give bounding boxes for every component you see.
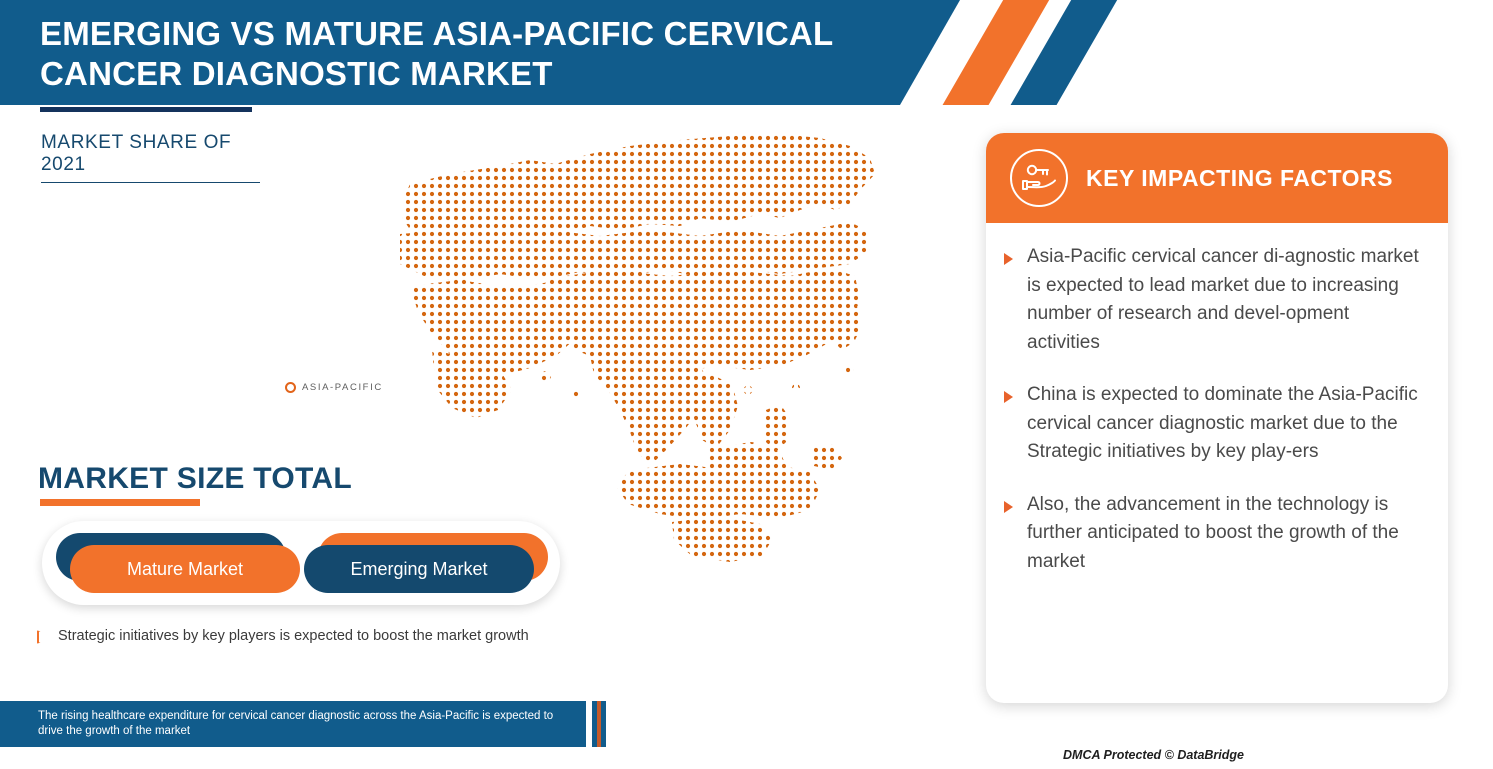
key-impacting-factors-panel: KEY IMPACTING FACTORS Asia-Pacific cervi… [986,133,1448,703]
market-share-accent-bar [40,107,252,112]
page-header: EMERGING VS MATURE ASIA-PACIFIC CERVICAL… [0,0,1493,105]
banner-tick-right [601,701,606,747]
market-size-bullet: Strategic initiatives by key players is … [37,626,607,647]
triangle-bullet-icon [1004,501,1013,513]
key-impacting-factors-title: KEY IMPACTING FACTORS [1086,165,1393,192]
market-size-total-title: MARKET SIZE TOTAL [38,462,352,496]
dot-map-svg [380,118,900,588]
hand-holding-key-icon [1010,149,1068,207]
emerging-market-pill-group[interactable]: Emerging Market [304,521,548,605]
list-item-text: China is expected to dominate the Asia-P… [1027,381,1422,467]
market-size-underline [40,499,200,506]
bottom-banner: The rising healthcare expenditure for ce… [0,701,586,747]
triangle-bullet-icon [37,630,49,644]
triangle-bullet-icon [1004,391,1013,403]
page-title: EMERGING VS MATURE ASIA-PACIFIC CERVICAL… [40,14,920,94]
bottom-banner-text: The rising healthcare expenditure for ce… [0,709,586,739]
market-share-label: MARKET SHARE OF 2021 [41,132,260,183]
circle-marker-icon [285,382,296,393]
key-impacting-factors-header: KEY IMPACTING FACTORS [986,133,1448,223]
dmca-footer: DMCA Protected © DataBridge [1063,748,1244,762]
list-item: Asia-Pacific cervical cancer di-agnostic… [1004,243,1422,357]
market-size-bullet-text: Strategic initiatives by key players is … [58,626,529,647]
map-region-label: ASIA-PACIFIC [302,382,383,393]
key-impacting-factors-list: Asia-Pacific cervical cancer di-agnostic… [986,223,1448,576]
mature-market-pill[interactable]: Mature Market [70,545,300,593]
list-item-text: Also, the advancement in the technology … [1027,491,1422,577]
asia-pacific-map-marker: ASIA-PACIFIC [285,382,383,393]
mature-market-pill-group[interactable]: Mature Market [56,521,302,605]
list-item-text: Asia-Pacific cervical cancer di-agnostic… [1027,243,1422,357]
emerging-market-pill[interactable]: Emerging Market [304,545,534,593]
asia-pacific-dot-map: ASIA-PACIFIC [380,118,900,588]
list-item: Also, the advancement in the technology … [1004,491,1422,577]
triangle-bullet-icon [1004,253,1013,265]
market-size-pill-card: Mature Market Emerging Market [42,521,560,605]
list-item: China is expected to dominate the Asia-P… [1004,381,1422,467]
hand-key-glyph [1019,161,1059,195]
